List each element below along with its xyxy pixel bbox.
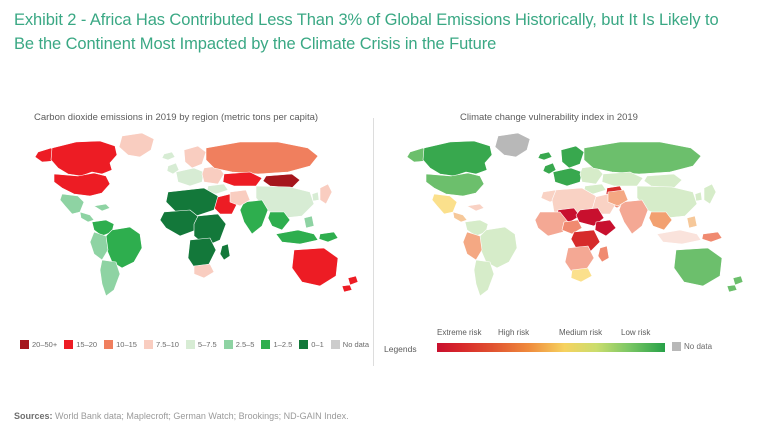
country-philippines <box>304 216 314 228</box>
country-iceland <box>162 152 175 160</box>
country-mexico <box>60 194 84 214</box>
legend-label: 7.5–10 <box>156 340 179 349</box>
region-western-europe <box>553 168 582 186</box>
region-caribbean <box>94 204 110 211</box>
country-south-africa <box>194 264 214 278</box>
region-west-africa <box>535 212 568 236</box>
map-co2-emissions <box>18 130 370 305</box>
region-korea <box>695 192 702 201</box>
country-india <box>619 200 648 234</box>
country-greenland <box>119 133 154 157</box>
map-climate-vulnerability <box>388 130 756 305</box>
legend-swatch <box>299 340 308 349</box>
country-indonesia <box>276 230 318 244</box>
panel-climate-vulnerability: Climate change vulnerability index in 20… <box>388 112 756 374</box>
country-russia <box>206 142 318 174</box>
region-scandinavia <box>561 146 584 168</box>
country-new-zealand <box>348 276 358 285</box>
legend-swatch <box>104 340 113 349</box>
country-madagascar <box>598 246 609 262</box>
legend-label: 1–2.5 <box>273 340 292 349</box>
country-new-zealand-south <box>727 285 737 292</box>
legend-label: No data <box>684 342 712 351</box>
legend-label: 0–1 <box>311 340 324 349</box>
panel-right-title: Climate change vulnerability index in 20… <box>460 112 756 124</box>
country-russia <box>584 142 701 174</box>
legend-swatch <box>672 342 681 351</box>
sources-label: Sources: <box>14 411 53 421</box>
region-scandinavia <box>184 146 206 168</box>
risk-gradient-bar[interactable] <box>437 343 665 352</box>
country-philippines <box>687 216 697 228</box>
legend-label: 5–7.5 <box>198 340 217 349</box>
country-new-zealand <box>733 276 743 285</box>
legend-item[interactable]: 1–2.5 <box>261 340 292 349</box>
country-india <box>240 200 268 234</box>
country-papua-new-guinea <box>702 232 722 242</box>
country-indonesia <box>657 230 701 244</box>
legend-item-no-data[interactable]: No data <box>672 342 712 351</box>
country-madagascar <box>220 244 230 260</box>
region-central-america <box>453 212 467 222</box>
legends-label: Legends <box>384 344 417 354</box>
country-south-africa <box>571 268 592 282</box>
legend-item[interactable]: 15–20 <box>64 340 97 349</box>
legend-swatch <box>331 340 340 349</box>
region-caribbean <box>467 204 484 211</box>
region-korea <box>312 192 319 201</box>
legend-label: No data <box>343 340 369 349</box>
region-western-europe <box>176 168 204 186</box>
sources-text: World Bank data; Maplecroft; German Watc… <box>53 411 349 421</box>
legend-swatch <box>261 340 270 349</box>
country-australia <box>292 248 338 286</box>
legend-swatch <box>224 340 233 349</box>
world-map-vulnerability-svg <box>388 130 756 305</box>
legend-item[interactable]: 0–1 <box>299 340 324 349</box>
country-canada <box>51 141 117 176</box>
country-united-states <box>54 173 110 196</box>
region-central-america <box>80 212 94 222</box>
country-argentina <box>100 260 120 296</box>
country-iceland <box>538 152 552 160</box>
exhibit-body: Carbon dioxide emissions in 2019 by regi… <box>0 112 768 374</box>
country-new-zealand-south <box>342 285 352 292</box>
country-greenland <box>495 133 530 157</box>
country-japan <box>320 184 332 204</box>
page-title: Exhibit 2 - Africa Has Contributed Less … <box>14 8 730 56</box>
legend-co2-emissions: 20–50+ 15–20 10–15 7.5–10 5–7.5 2.5–5 <box>20 340 376 349</box>
risk-label-low: Low risk <box>621 328 650 337</box>
country-mongolia <box>263 174 300 188</box>
legend-swatch <box>20 340 29 349</box>
legend-climate-vulnerability: Legends Extreme risk High risk Medium ri… <box>384 328 756 362</box>
world-map-co2-svg <box>18 130 370 305</box>
panel-co2-emissions: Carbon dioxide emissions in 2019 by regi… <box>18 112 370 374</box>
country-argentina <box>474 260 494 296</box>
legend-item[interactable]: 5–7.5 <box>186 340 217 349</box>
legend-label: 15–20 <box>76 340 97 349</box>
legend-swatch <box>144 340 153 349</box>
legend-swatch <box>64 340 73 349</box>
country-japan <box>704 184 716 204</box>
country-mexico <box>432 194 457 214</box>
risk-label-medium: Medium risk <box>559 328 602 337</box>
legend-item[interactable]: 10–15 <box>104 340 137 349</box>
panel-divider <box>373 118 374 366</box>
legend-label: 20–50+ <box>32 340 57 349</box>
country-ethiopia <box>595 220 616 236</box>
country-australia <box>674 248 722 286</box>
country-peru <box>463 232 482 260</box>
risk-label-extreme: Extreme risk <box>437 328 481 337</box>
legend-item-no-data[interactable]: No data <box>331 340 369 349</box>
legend-item[interactable]: 2.5–5 <box>224 340 255 349</box>
legend-label: 10–15 <box>116 340 137 349</box>
legend-swatch <box>186 340 195 349</box>
panel-left-title: Carbon dioxide emissions in 2019 by regi… <box>34 112 370 124</box>
sources-note: Sources: World Bank data; Maplecroft; Ge… <box>14 410 349 423</box>
country-papua-new-guinea <box>319 232 338 242</box>
country-mongolia <box>644 174 682 188</box>
legend-item[interactable]: 20–50+ <box>20 340 57 349</box>
country-peru <box>90 232 108 260</box>
legend-label: 2.5–5 <box>236 340 255 349</box>
legend-item[interactable]: 7.5–10 <box>144 340 179 349</box>
country-united-states <box>426 173 484 196</box>
risk-label-high: High risk <box>498 328 529 337</box>
country-canada <box>423 141 492 176</box>
